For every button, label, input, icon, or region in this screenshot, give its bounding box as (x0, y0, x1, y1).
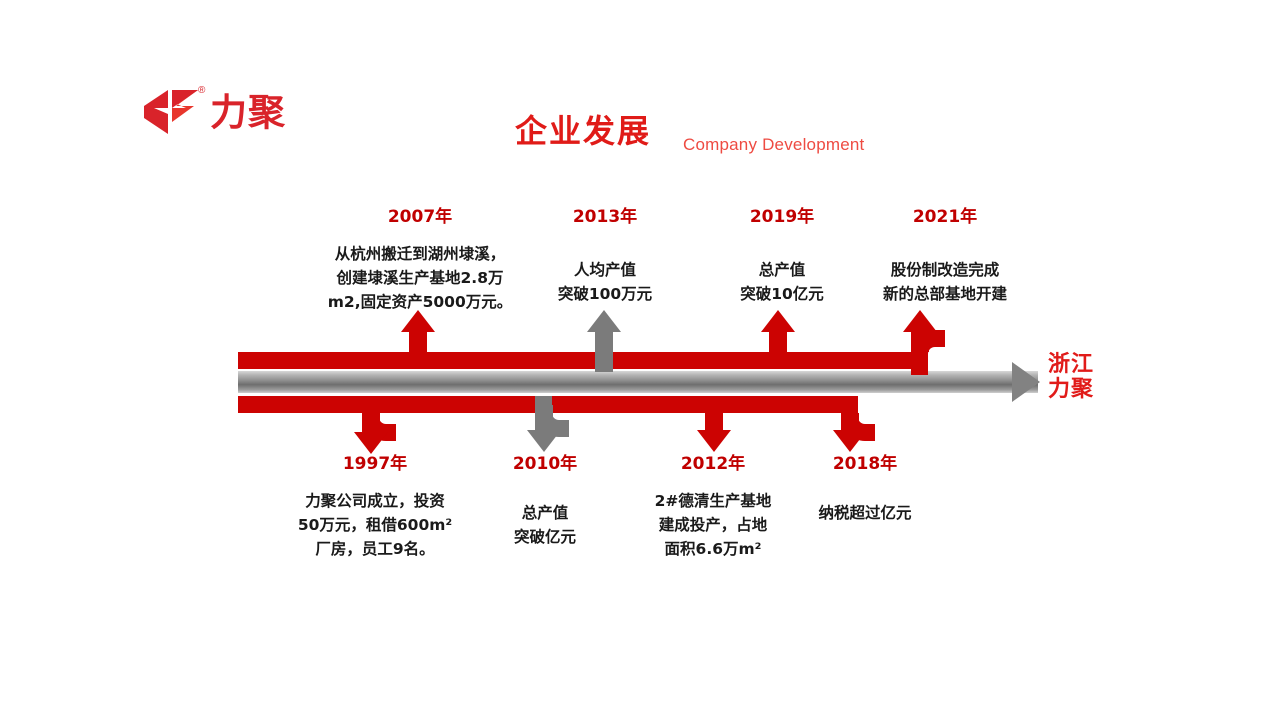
event-1997[interactable]: 1997年 力聚公司成立，投资 50万元，租借600m² 厂房，员工9名。 (265, 453, 485, 561)
event-2013-line-2: 突破100万元 (520, 282, 690, 306)
event-2021-description: 股份制改造完成 新的总部基地开建 (845, 258, 1045, 306)
connector-2010-stem (535, 405, 553, 433)
event-2012-line-1: 2#德清生产基地 (638, 489, 788, 513)
event-2021-line-2: 新的总部基地开建 (845, 282, 1045, 306)
connector-2007-stem (409, 330, 427, 360)
event-2019-year: 2019年 (697, 206, 867, 228)
event-2019-line-2: 突破10亿元 (697, 282, 867, 306)
event-2007-line-1: 从杭州搬迁到湖州埭溪， (300, 242, 540, 266)
connector-2019-stem (769, 330, 787, 360)
event-2021-year: 2021年 (845, 206, 1045, 228)
event-2010-line-2: 突破亿元 (475, 525, 615, 549)
connector-1997-arrow-icon (354, 432, 388, 454)
company-logo: ® 力聚 (142, 86, 292, 146)
event-2007-description: 从杭州搬迁到湖州埭溪， 创建埭溪生产基地2.8万 m2,固定资产5000万元。 (300, 242, 540, 314)
event-2007-year: 2007年 (300, 206, 540, 228)
event-2007[interactable]: 2007年 从杭州搬迁到湖州埭溪， 创建埭溪生产基地2.8万 m2,固定资产50… (300, 206, 540, 314)
connector-2013-arrow-icon (587, 310, 621, 332)
event-1997-line-1: 力聚公司成立，投资 (265, 489, 485, 513)
connector-2010-arrow-icon (527, 430, 561, 452)
connector-2012-arrow-icon (697, 430, 731, 452)
event-2010-year: 2010年 (475, 453, 615, 475)
event-2018-year: 2018年 (790, 453, 940, 475)
event-2021[interactable]: 2021年 股份制改造完成 新的总部基地开建 (845, 206, 1045, 306)
event-2013[interactable]: 2013年 人均产值 突破100万元 (520, 206, 690, 306)
event-2018[interactable]: 2018年 纳税超过亿元 (790, 453, 940, 525)
event-2019-line-1: 总产值 (697, 258, 867, 282)
event-1997-line-2: 50万元，租借600m² (265, 513, 485, 537)
event-2010[interactable]: 2010年 总产值 突破亿元 (475, 453, 615, 549)
event-2019-description: 总产值 突破10亿元 (697, 258, 867, 306)
lightning-bolt-logo-icon (142, 88, 206, 138)
page-title: 企业发展 (515, 112, 651, 150)
page-subtitle: Company Development (683, 134, 864, 156)
timeline-end-label: 浙江 力聚 (1048, 352, 1094, 402)
event-2018-line-1: 纳税超过亿元 (790, 501, 940, 525)
connector-2013-stem (595, 330, 613, 372)
connector-2021-stem (911, 330, 929, 352)
timeline-end-label-line2: 力聚 (1048, 377, 1094, 402)
event-2021-line-1: 股份制改造完成 (845, 258, 1045, 282)
event-2012-description: 2#德清生产基地 建成投产，占地 面积6.6万m² (638, 489, 788, 561)
event-1997-year: 1997年 (265, 453, 485, 475)
connector-2012-stem (705, 405, 723, 433)
event-1997-line-3: 厂房，员工9名。 (265, 537, 485, 561)
connector-2021-arrow-icon (903, 310, 937, 332)
event-2013-description: 人均产值 突破100万元 (520, 258, 690, 306)
event-2010-description: 总产值 突破亿元 (475, 501, 615, 549)
event-2019[interactable]: 2019年 总产值 突破10亿元 (697, 206, 867, 306)
event-2012-line-3: 面积6.6万m² (638, 537, 788, 561)
slide-canvas: ® 力聚 企业发展 Company Development 浙江 力聚 2007… (0, 0, 1280, 720)
event-2013-line-1: 人均产值 (520, 258, 690, 282)
logo-wordmark: 力聚 (210, 92, 286, 134)
connector-2019-arrow-icon (761, 310, 795, 332)
connector-2018-arrow-icon (833, 430, 867, 452)
event-2012-line-2: 建成投产，占地 (638, 513, 788, 537)
timeline-red-upper-track (238, 352, 928, 369)
timeline-arrow-head-icon (1012, 362, 1040, 402)
event-2013-year: 2013年 (520, 206, 690, 228)
event-2012[interactable]: 2012年 2#德清生产基地 建成投产，占地 面积6.6万m² (638, 453, 788, 561)
event-1997-description: 力聚公司成立，投资 50万元，租借600m² 厂房，员工9名。 (265, 489, 485, 561)
event-2007-line-3: m2,固定资产5000万元。 (300, 290, 540, 314)
timeline-end-label-line1: 浙江 (1048, 352, 1094, 377)
event-2010-line-1: 总产值 (475, 501, 615, 525)
event-2007-line-2: 创建埭溪生产基地2.8万 (300, 266, 540, 290)
registered-trademark-icon: ® (198, 86, 205, 96)
event-2012-year: 2012年 (638, 453, 788, 475)
event-2018-description: 纳税超过亿元 (790, 501, 940, 525)
